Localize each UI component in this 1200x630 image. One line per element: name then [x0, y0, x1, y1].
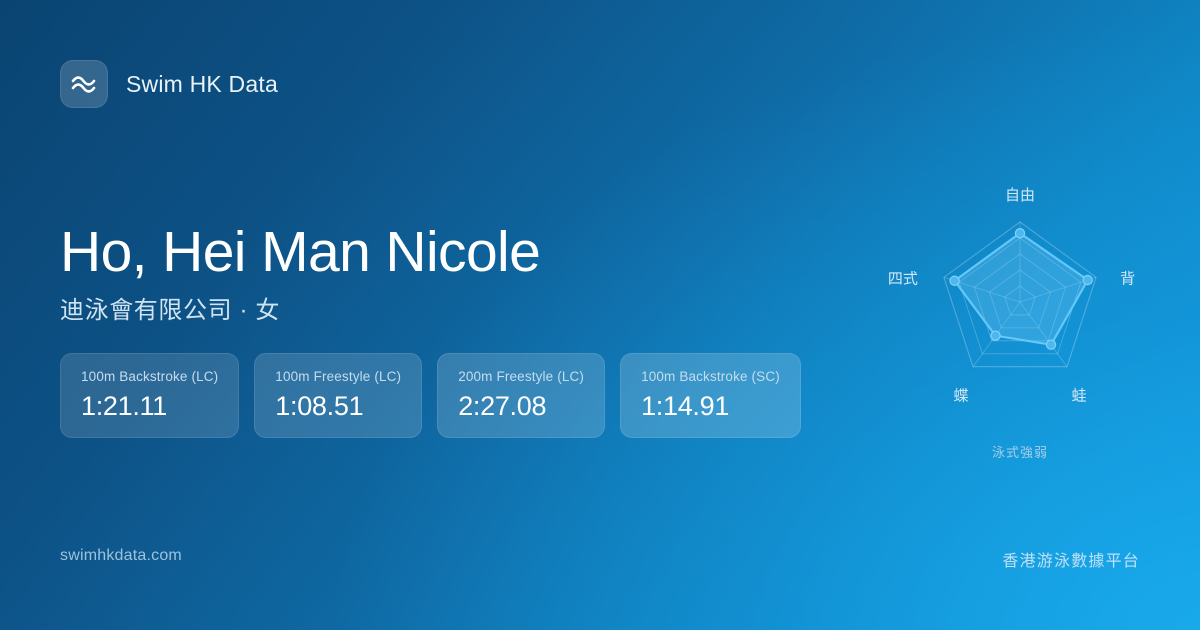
radar-chart: 自由背蛙蝶四式 泳式強弱 [860, 160, 1180, 480]
stat-card-label: 100m Freestyle (LC) [275, 370, 401, 385]
stat-card-value: 1:21.11 [81, 392, 218, 420]
stat-card: 100m Backstroke (SC) 1:14.91 [620, 353, 801, 438]
footer-tagline: 香港游泳數據平台 [1002, 547, 1140, 571]
radar-axis-label: 蛙 [1071, 388, 1086, 405]
radar-series-area [955, 233, 1088, 345]
stat-card-value: 1:08.51 [275, 392, 401, 420]
wave-icon [60, 60, 108, 108]
brand: Swim HK Data [60, 60, 278, 108]
stat-card-label: 200m Freestyle (LC) [458, 370, 584, 385]
stat-card-list: 100m Backstroke (LC) 1:21.11 100m Freest… [60, 353, 801, 438]
stat-card-label: 100m Backstroke (LC) [81, 370, 218, 385]
athlete-meta: 迪泳會有限公司 · 女 [60, 297, 840, 326]
share-card: Swim HK Data Ho, Hei Man Nicole 迪泳會有限公司 … [0, 0, 1200, 630]
page-title: Ho, Hei Man Nicole [60, 222, 840, 284]
hero: Ho, Hei Man Nicole 迪泳會有限公司 · 女 [60, 222, 840, 325]
stat-card: 100m Backstroke (LC) 1:21.11 [60, 353, 239, 438]
stat-card-label: 100m Backstroke (SC) [641, 370, 780, 385]
stat-card: 100m Freestyle (LC) 1:08.51 [254, 353, 422, 438]
radar-caption: 泳式強弱 [860, 442, 1180, 461]
stat-card: 200m Freestyle (LC) 2:27.08 [437, 353, 605, 438]
stat-card-value: 1:14.91 [641, 392, 780, 420]
footer-site: swimhkdata.com [60, 547, 182, 565]
radar-axis-label: 自由 [1005, 187, 1035, 204]
brand-name: Swim HK Data [126, 73, 278, 96]
radar-axis-label: 蝶 [953, 388, 968, 405]
radar-axis-label: 背 [1120, 270, 1135, 287]
radar-axis-label: 四式 [888, 270, 918, 287]
stat-card-value: 2:27.08 [458, 392, 584, 420]
